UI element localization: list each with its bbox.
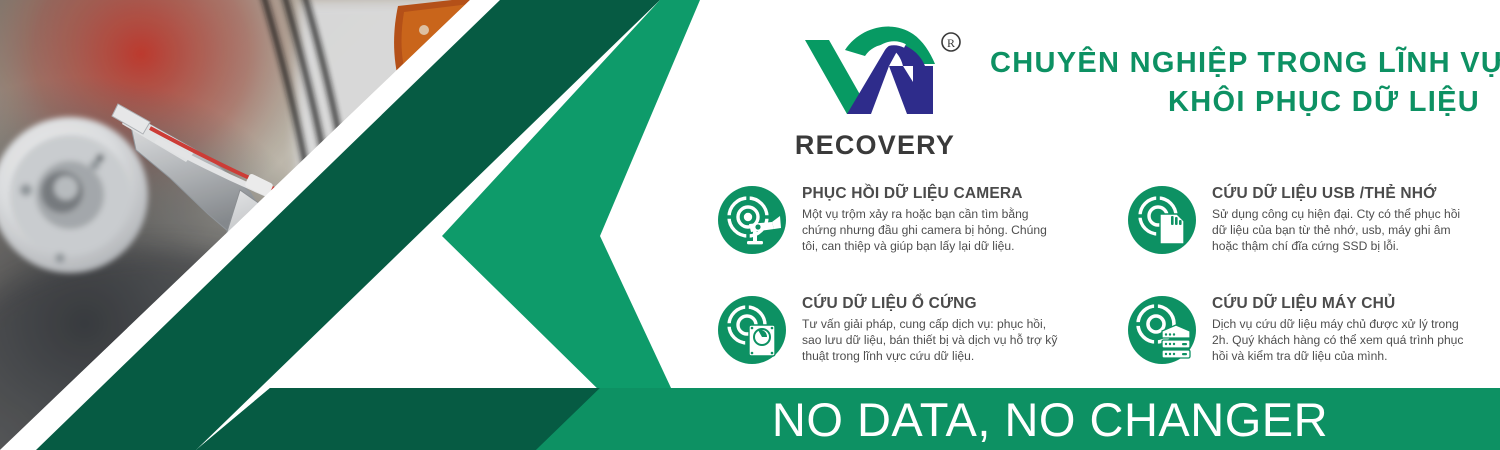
feature-description: Sử dụng công cụ hiện đại. Cty có thể phụ… (1212, 206, 1468, 255)
va-logo-mark: R (785, 24, 965, 114)
registered-trademark-icon: R (942, 33, 960, 51)
feature-title: PHỤC HỒI DỮ LIỆU CAMERA (802, 184, 1058, 203)
svg-text:R: R (947, 36, 955, 50)
feature-title: CỨU DỮ LIỆU Ổ CỨNG (802, 294, 1058, 313)
recovery-service-banner: R RECOVERY CHUYÊN NGHIỆP TRONG LĨNH VỰC … (0, 0, 1500, 450)
usb-memory-card-recovery-icon (1128, 186, 1196, 254)
slogan-bar-dark-cap (196, 388, 600, 450)
feature-text-block: CỨU DỮ LIỆU USB /THẺ NHỚ Sử dụng công cụ… (1212, 184, 1468, 255)
feature-text-block: CỨU DỮ LIỆU Ổ CỨNG Tư vấn giải pháp, cun… (802, 294, 1058, 365)
feature-description: Một vụ trộm xảy ra hoặc bạn cần tìm bằng… (802, 206, 1058, 255)
feature-usb-card-recovery[interactable]: CỨU DỮ LIỆU USB /THẺ NHỚ Sử dụng công cụ… (1128, 184, 1468, 284)
feature-text-block: CỨU DỮ LIỆU MÁY CHỦ Dịch vụ cứu dữ liệu … (1212, 294, 1468, 365)
feature-camera-recovery[interactable]: PHỤC HỒI DỮ LIỆU CAMERA Một vụ trộm xảy … (718, 184, 1058, 284)
feature-description: Tư vấn giải pháp, cung cấp dịch vụ: phục… (802, 316, 1058, 365)
hard-disk-recovery-icon (718, 296, 786, 364)
feature-hard-disk-recovery[interactable]: CỨU DỮ LIỆU Ổ CỨNG Tư vấn giải pháp, cun… (718, 294, 1058, 394)
feature-description: Dịch vụ cứu dữ liệu máy chủ được xử lý t… (1212, 316, 1468, 365)
logo-wordmark: RECOVERY (785, 132, 965, 159)
headline-line-2: KHÔI PHỤC DỮ LIỆU (990, 83, 1480, 122)
page-title: CHUYÊN NGHIỆP TRONG LĨNH VỰC KHÔI PHỤC D… (990, 44, 1480, 122)
feature-title: CỨU DỮ LIỆU USB /THẺ NHỚ (1212, 184, 1468, 203)
feature-server-recovery[interactable]: CỨU DỮ LIỆU MÁY CHỦ Dịch vụ cứu dữ liệu … (1128, 294, 1468, 394)
feature-title: CỨU DỮ LIỆU MÁY CHỦ (1212, 294, 1468, 313)
cctv-camera-recovery-icon (718, 186, 786, 254)
va-recovery-logo[interactable]: R RECOVERY (785, 24, 965, 148)
slogan-text: NO DATA, NO CHANGER (600, 388, 1500, 450)
server-recovery-icon (1128, 296, 1196, 364)
feature-text-block: PHỤC HỒI DỮ LIỆU CAMERA Một vụ trộm xảy … (802, 184, 1058, 255)
headline-line-1: CHUYÊN NGHIỆP TRONG LĨNH VỰC (990, 44, 1480, 83)
